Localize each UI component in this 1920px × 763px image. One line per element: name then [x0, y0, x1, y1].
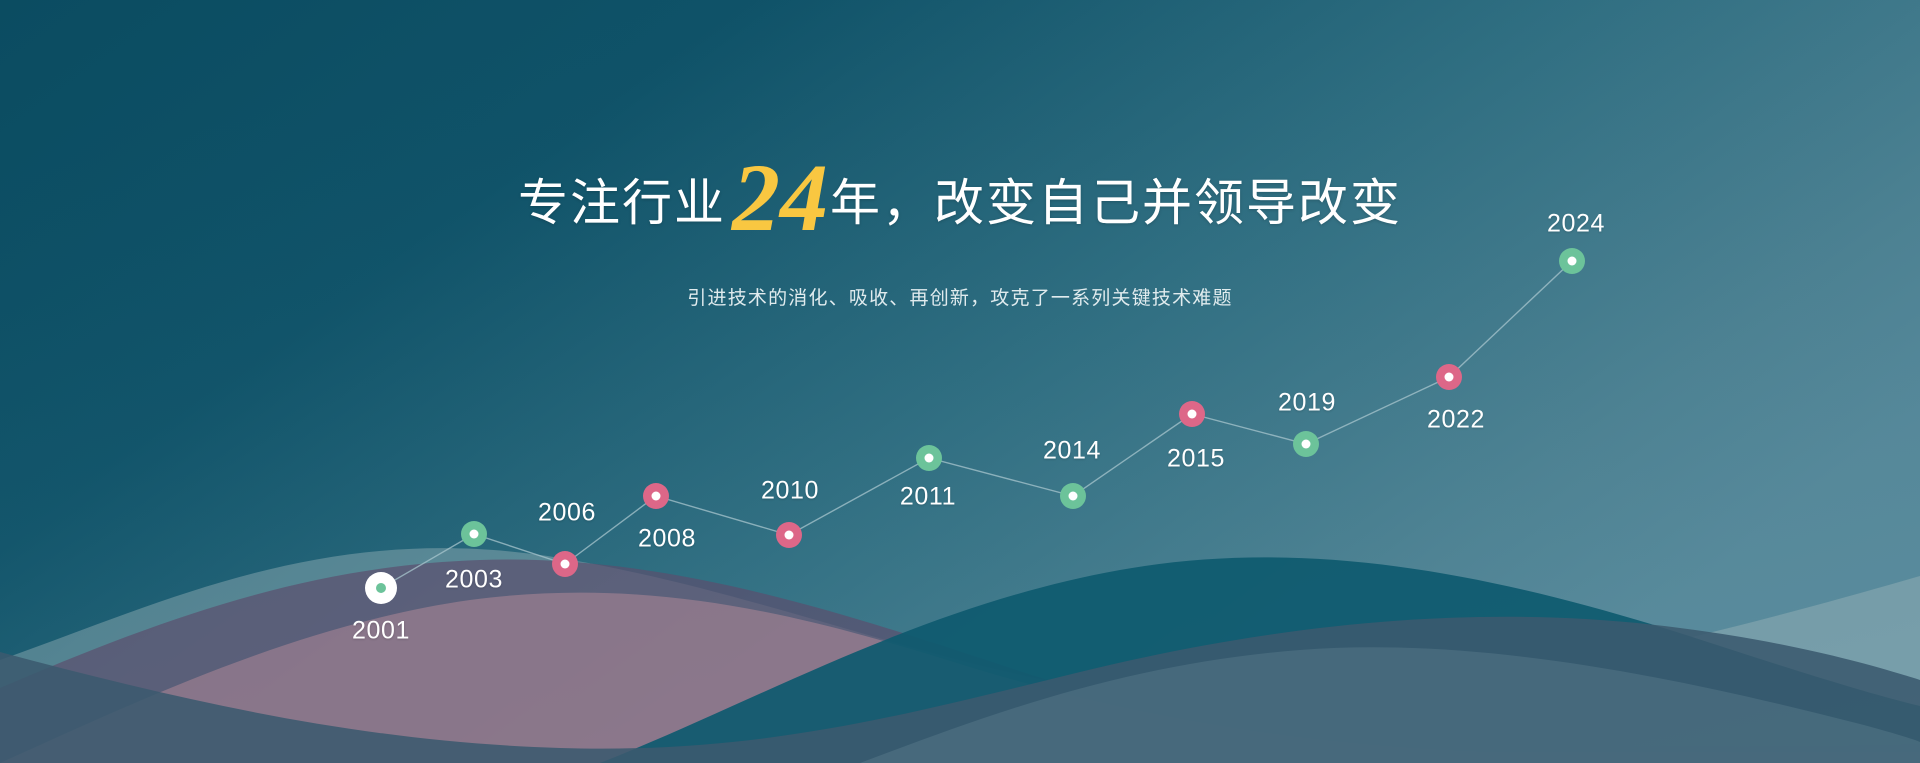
- year-label-2008: 2008: [638, 525, 696, 554]
- year-label-2014: 2014: [1043, 437, 1101, 466]
- page-title: 专注行业24年，改变自己并领导改变: [0, 168, 1920, 233]
- year-label-2024: 2024: [1547, 210, 1605, 239]
- year-label-2010: 2010: [761, 477, 819, 506]
- year-label-2019: 2019: [1278, 389, 1336, 418]
- year-label-2003: 2003: [445, 566, 503, 595]
- text-layer: 专注行业24年，改变自己并领导改变 引进技术的消化、吸收、再创新，攻克了一系列关…: [0, 0, 1920, 763]
- year-label-2022: 2022: [1427, 406, 1485, 435]
- year-label-2015: 2015: [1167, 445, 1225, 474]
- year-label-2011: 2011: [900, 483, 956, 512]
- year-label-2006: 2006: [538, 499, 596, 528]
- hero-banner: 专注行业24年，改变自己并领导改变 引进技术的消化、吸收、再创新，攻克了一系列关…: [0, 0, 1920, 763]
- year-label-2001: 2001: [352, 617, 410, 646]
- page-subtitle: 引进技术的消化、吸收、再创新，攻克了一系列关键技术难题: [0, 283, 1920, 310]
- headline-suffix: 年，改变自己并领导改变: [830, 175, 1402, 231]
- headline-number-24: 24: [732, 144, 828, 251]
- headline-prefix: 专注行业: [518, 175, 726, 231]
